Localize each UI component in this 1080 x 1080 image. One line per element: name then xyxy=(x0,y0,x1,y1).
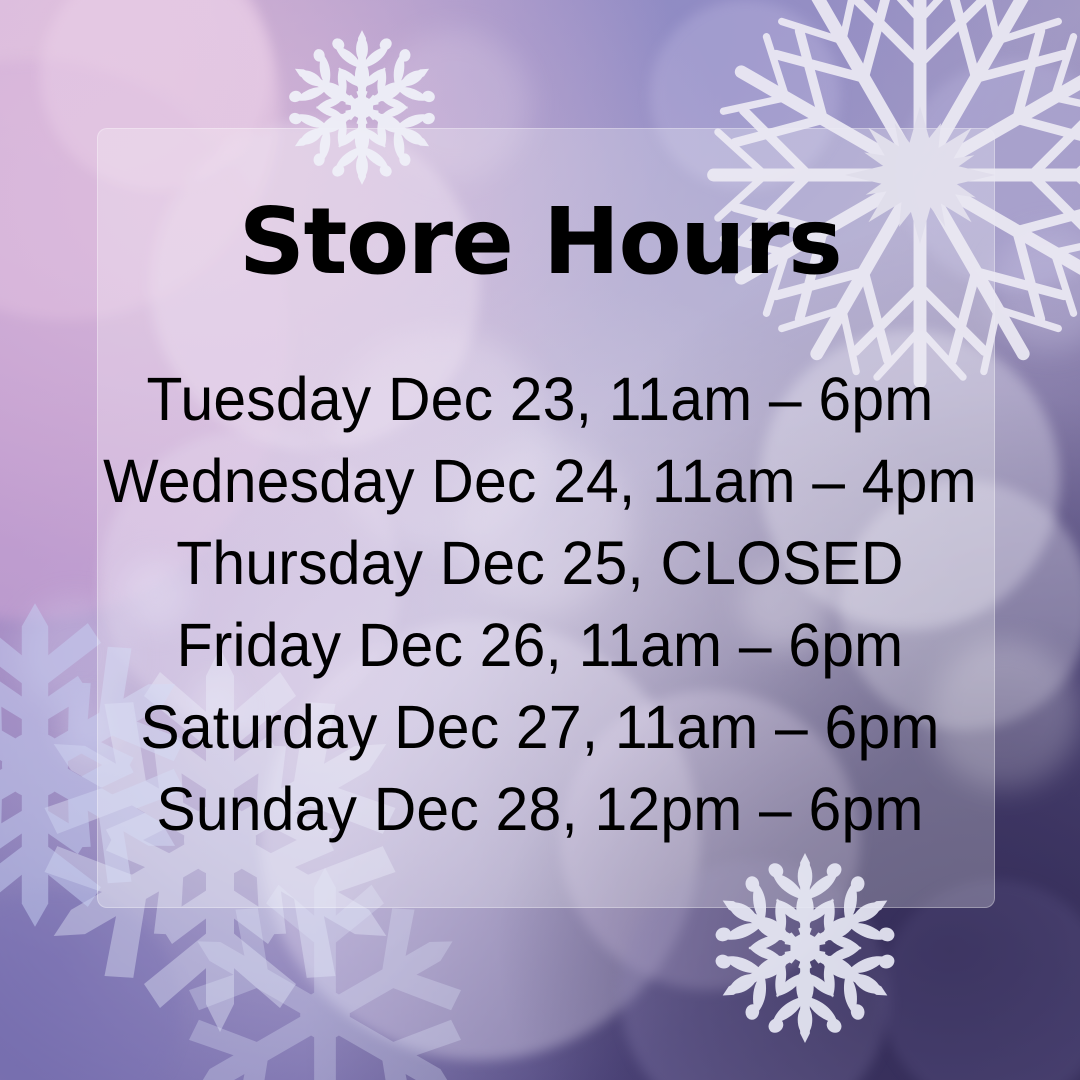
poster-canvas: Store Hours Tuesday Dec 23, 11am – 6pm W… xyxy=(0,0,1080,1080)
hours-row: Friday Dec 26, 11am – 6pm xyxy=(19,604,1061,686)
page-title: Store Hours xyxy=(0,196,1080,288)
hours-row: Wednesday Dec 24, 11am – 4pm xyxy=(19,440,1061,522)
hours-row: Thursday Dec 25, CLOSED xyxy=(19,522,1061,604)
hours-row: Sunday Dec 28, 12pm – 6pm xyxy=(19,768,1061,850)
store-hours-list: Tuesday Dec 23, 11am – 6pm Wednesday Dec… xyxy=(0,358,1080,850)
hours-row: Tuesday Dec 23, 11am – 6pm xyxy=(19,358,1061,440)
poster-content: Store Hours Tuesday Dec 23, 11am – 6pm W… xyxy=(0,0,1080,1080)
hours-row: Saturday Dec 27, 11am – 6pm xyxy=(19,686,1061,768)
